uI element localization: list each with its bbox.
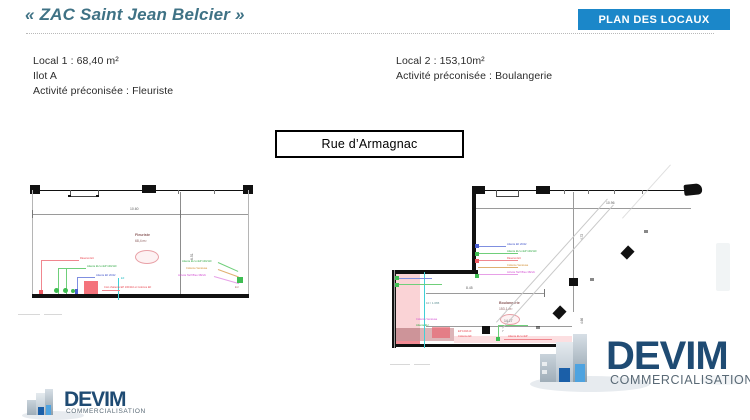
plan-left-scalebar-b [44, 314, 62, 315]
plan-right-lower-left-thin [394, 270, 395, 348]
plan-right-tick-2 [588, 190, 589, 194]
plan-right-marker-2 [475, 252, 479, 256]
plan-left-annot-3: Attente EF 20/22 [96, 274, 115, 277]
plan-left-dim-tick-a [32, 210, 33, 218]
local-2-line2: Activité préconisée : Boulangerie [396, 69, 552, 84]
plan-right-scalebar-b [414, 364, 430, 365]
plan-left-marker-blue [75, 289, 78, 294]
plan-right-diag-block-1 [620, 245, 634, 259]
plan-left-room-caption: Fleuriste [135, 234, 150, 237]
plan-left-door-marker-b [96, 195, 99, 197]
plan-right-diag-block-2 [552, 305, 566, 319]
plan-left-annot-r2: Colonne Ventouse [186, 267, 207, 270]
plan-left-block-pink [84, 281, 98, 294]
plan-right-lead-b2 [398, 284, 442, 285]
devim-logo-small: DEVIM COMMERCIALISATION [22, 388, 140, 420]
plan-right-scalebar-a [390, 364, 410, 365]
plan-right-annot-b5: EP 100/110 [458, 330, 471, 333]
local-2-line1: Local 2 : 153,10m² [396, 54, 552, 69]
plan-right-dim-vert-bottom: 4.66 [580, 318, 584, 324]
plan-left-pillar-2 [142, 185, 156, 193]
plan-right-diag-tick-1 [590, 278, 594, 281]
status-badge: PLAN DES LOCAUX [578, 9, 730, 30]
floor-plan-local-1: 10.60 6.51 Fleuriste 68,4 m² Réservé EU … [18, 182, 271, 322]
plan-right-marker-b2 [395, 283, 399, 287]
plan-right-marker-1 [475, 244, 479, 248]
local-2-info: Local 2 : 153,10m² Activité préconisée :… [396, 54, 552, 84]
plan-right-corner-wedge [683, 183, 702, 196]
plan-left-tick-1 [178, 190, 179, 194]
plan-left-dim-right-label: 6.51 [190, 253, 194, 260]
plan-left-room-area: 68,4 m² [135, 240, 147, 243]
plan-right-tick-1 [564, 190, 565, 194]
plan-right-partition-block [569, 278, 578, 286]
plan-right-dim-mid-line [426, 293, 544, 294]
plan-right-marker-b1 [395, 276, 399, 280]
plan-right-lead-blue [478, 246, 506, 247]
plan-left-dim-top-line [32, 214, 248, 215]
plan-left-annot-1: Réservé EU [80, 257, 94, 260]
plan-right-dim-mid-label: 8.45 [466, 287, 473, 290]
plan-left-stamp [135, 250, 159, 264]
plan-right-annot-3: Réservé EU [507, 257, 521, 260]
plan-right-tick-3 [614, 190, 615, 194]
street-label-box: Rue d’Armagnac [275, 130, 464, 158]
plan-right-annot-2: Attente EU et EP 100/110 [507, 250, 536, 253]
plan-right-dim-mid-tick [544, 289, 545, 297]
plan-right-block-bottom [482, 326, 490, 334]
plan-right-room-caption: Boulangerie [499, 302, 520, 305]
plan-left-lead-green-h [58, 268, 86, 269]
plan-left-annot-r-small: EU [235, 286, 239, 289]
plan-right-lead-b1 [398, 278, 432, 279]
plan-left-lead-red-v [41, 260, 42, 294]
slide-canvas: « ZAC Saint Jean Belcier » PLAN DES LOCA… [0, 0, 750, 420]
plan-left-lead-red-h [41, 260, 79, 261]
plan-left-partition [180, 192, 181, 295]
plan-right-annot-b6: Colonne EF [458, 335, 472, 338]
plan-right-dim-top-line [475, 208, 691, 209]
plan-left-annot-r1: Attente EU et EP 100/110 [182, 260, 211, 263]
plan-right-annot-b4: Attente EU [416, 324, 429, 327]
plan-left-dim-top-label: 10.60 [130, 208, 139, 211]
plan-left-tick-2 [214, 190, 215, 194]
plan-right-marker-3 [475, 259, 479, 263]
plan-right-door-swing [496, 196, 519, 197]
street-label-text: Rue d’Armagnac [322, 137, 418, 151]
plan-right-annot-b9: Attente EU et EP [508, 335, 528, 338]
plan-right-lower-top-wall [392, 270, 478, 274]
plan-left-marker-red [39, 290, 43, 294]
plan-left-dim-tick-b [180, 210, 181, 218]
plan-right-diag-tick-2 [644, 230, 648, 233]
plan-right-marker-b3 [496, 337, 500, 341]
devim-logo-large: DEVIM COMMERCIALISATION [530, 332, 745, 394]
plan-left-annot-4: Coin d'attente EP 100/110 et Colonne EF [104, 286, 151, 289]
plan-right-partition-v [573, 192, 574, 312]
header-divider [26, 33, 714, 34]
plan-right-diag-tick-3 [536, 326, 540, 329]
plan-left-marker-green-2 [63, 288, 68, 293]
plan-left-lead-cyan-h [102, 290, 120, 291]
plan-right-zone-pink-3 [432, 326, 450, 338]
plan-left-door-swing [70, 196, 99, 197]
logo-subtitle-small: COMMERCIALISATION [66, 408, 146, 415]
plan-left-left-wall [32, 190, 33, 295]
plan-left-right-wall [248, 190, 249, 295]
plan-right-annot-4: Colonne Ventouse [507, 264, 528, 267]
plan-right-dim-bottom-line [426, 326, 572, 327]
local-1-info: Local 1 : 68,40 m² Ilot A Activité préco… [33, 54, 173, 99]
plan-left-lead-blue-h [77, 277, 95, 278]
plan-left-scalebar-a [18, 314, 40, 315]
watermark-shape-1 [716, 243, 730, 291]
page-title: « ZAC Saint Jean Belcier » [25, 5, 245, 25]
plan-right-top-wall [475, 190, 691, 191]
plan-left-annot-2: Attente EU et EP 100/110 [87, 265, 116, 268]
plan-right-diag-label: Y [502, 330, 504, 333]
plan-left-marker-r-green [237, 277, 243, 283]
plan-right-annot-b3: Colonne Ventouse [416, 318, 437, 321]
plan-left-lead-r-magenta [214, 276, 239, 284]
plan-left-door-marker-a [68, 195, 71, 197]
local-1-line1: Local 1 : 68,40 m² [33, 54, 173, 69]
plan-right-dim-left-label: 10 / 1.065 [426, 302, 439, 305]
plan-left-top-wall [32, 190, 248, 191]
plan-left-annot-cyan: EF [121, 277, 124, 280]
plan-right-diag-edge-c [622, 164, 671, 218]
plan-right-pillar-2 [536, 186, 550, 194]
plan-left-bottom-wall [32, 294, 249, 298]
plan-right-marker-4 [475, 274, 479, 278]
logo-subtitle-large: COMMERCIALISATION [610, 373, 750, 387]
plan-left-annot-r3: Arrivée Tarif Bleu 36kVA [178, 274, 206, 277]
plan-left-marker-green-1 [54, 288, 59, 293]
plan-right-annot-5: Arrivée Tarif Bleu 36kVA [507, 271, 535, 274]
local-1-line3: Activité préconisée : Fleuriste [33, 84, 173, 99]
plan-right-annot-1: Attente EF 20/22 [507, 243, 526, 246]
local-1-line2: Ilot A [33, 69, 173, 84]
